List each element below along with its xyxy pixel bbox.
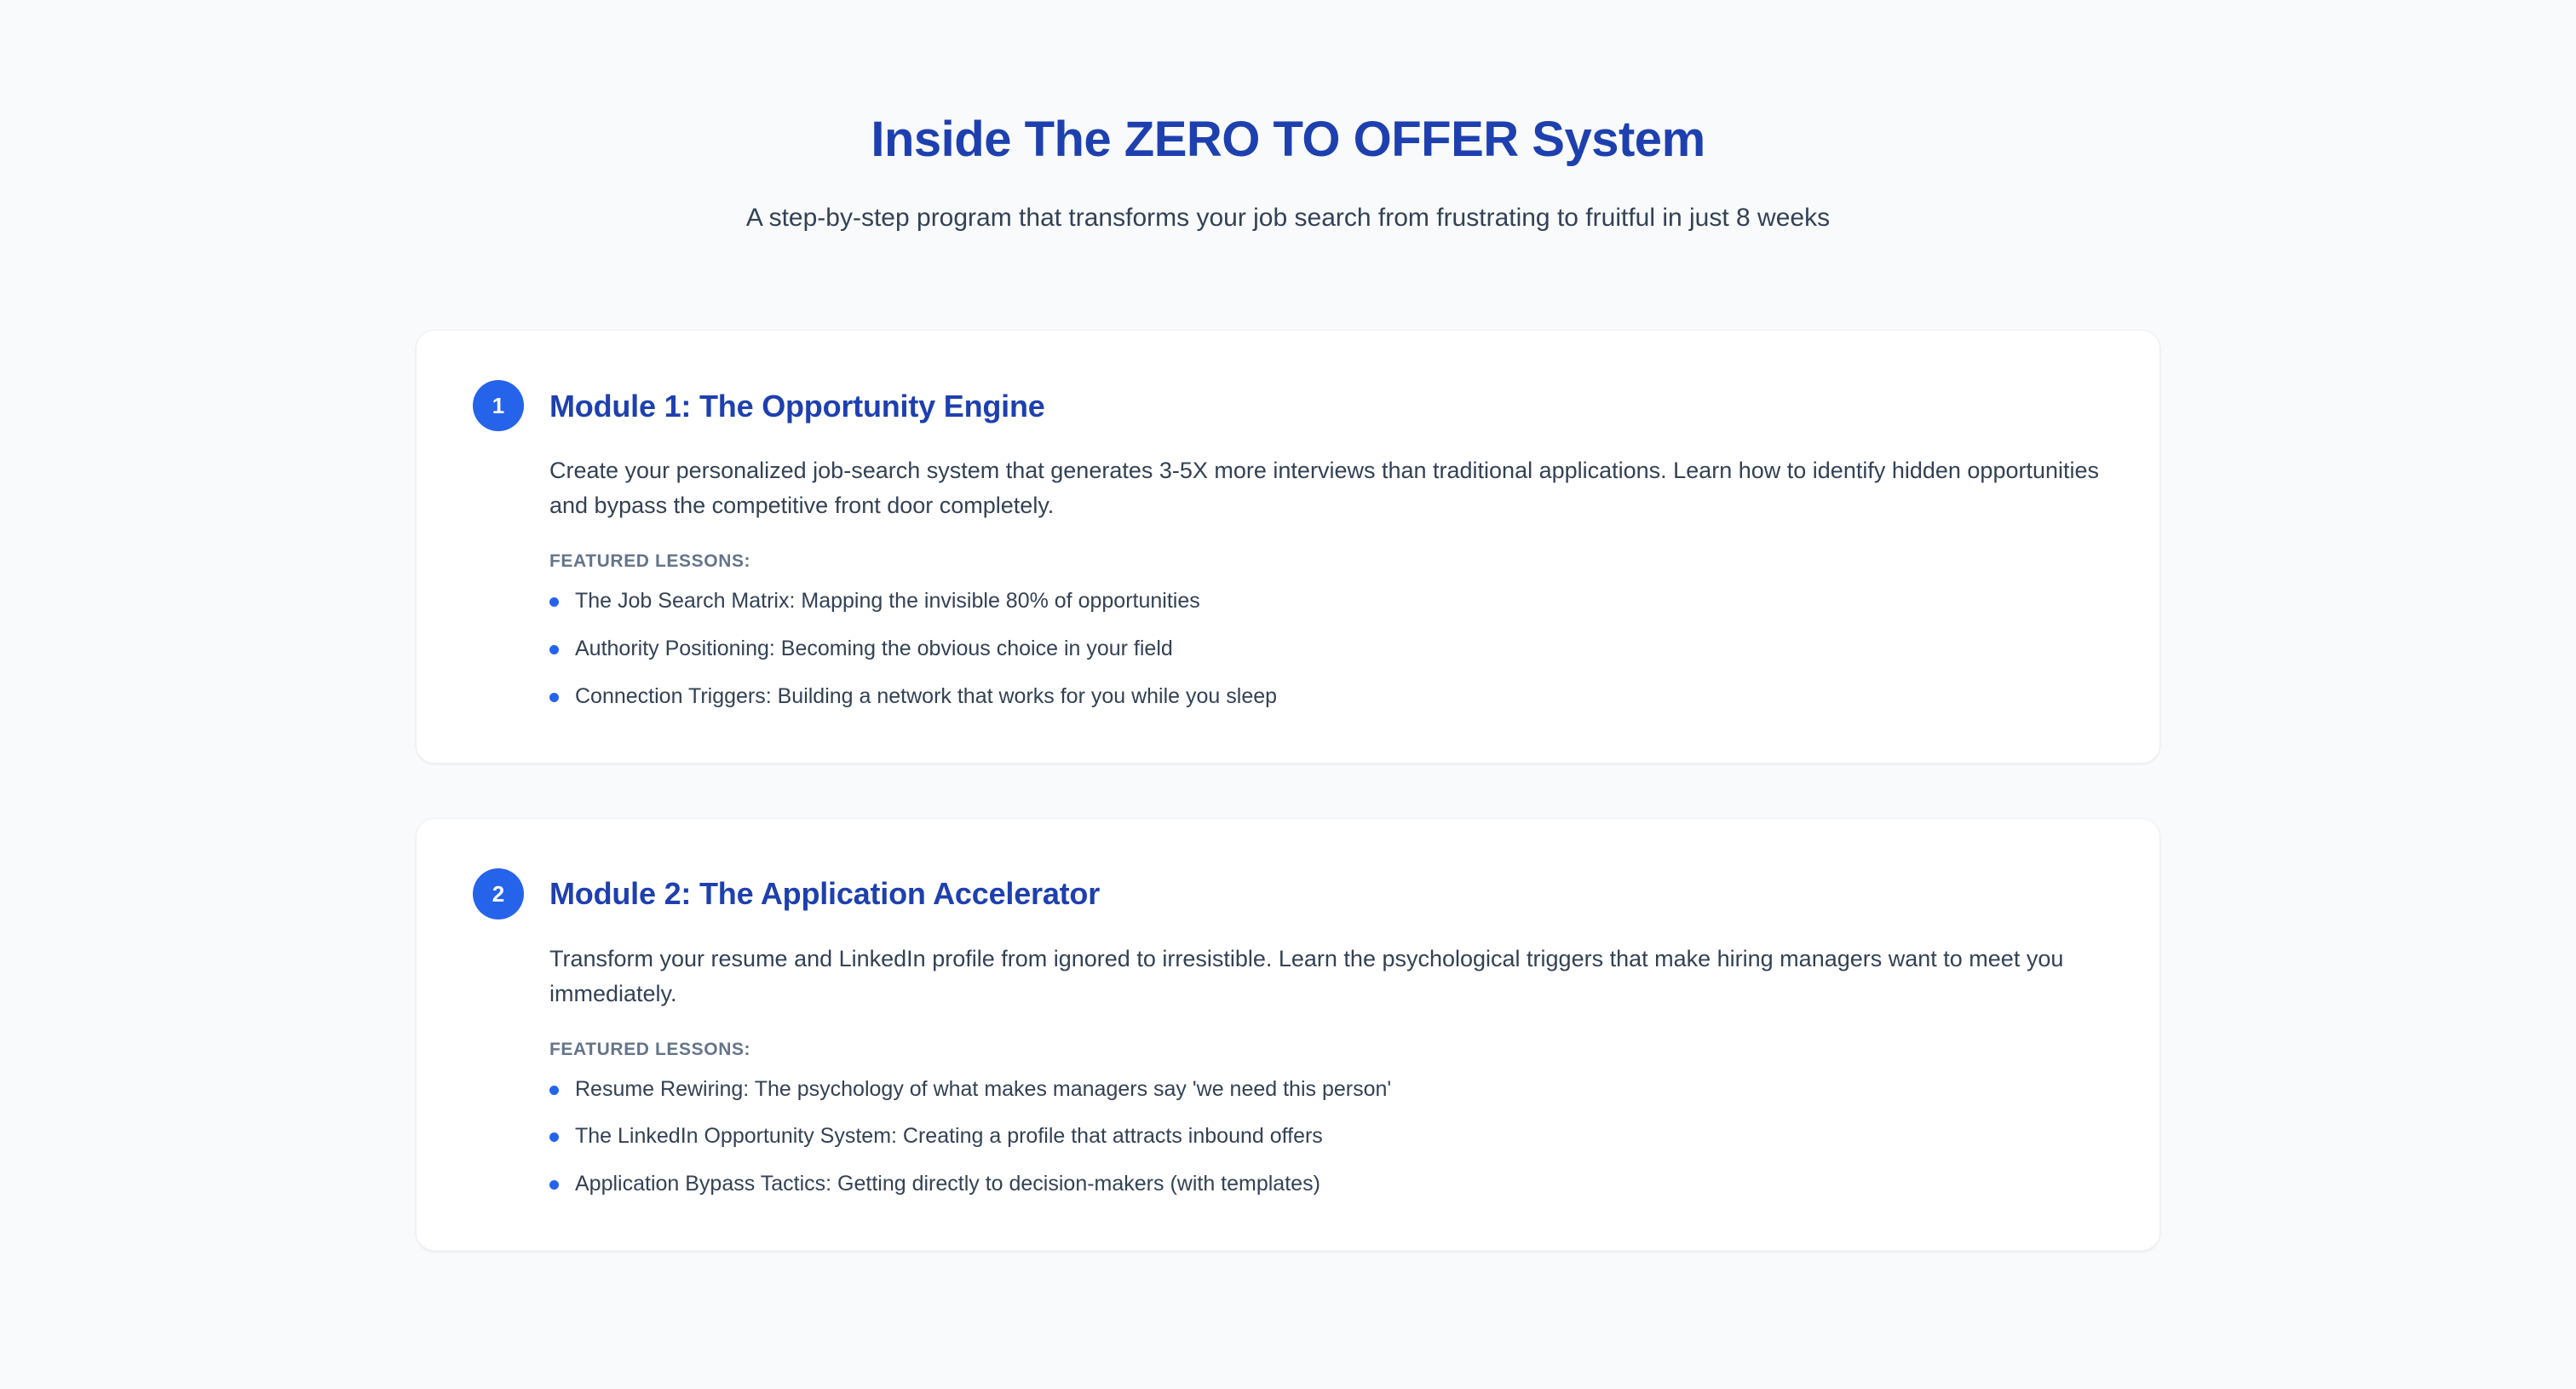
module-number-badge: 1 <box>473 380 524 431</box>
module-title: Module 1: The Opportunity Engine <box>549 389 1045 424</box>
module-card[interactable]: 2 Module 2: The Application Accelerator … <box>416 818 2160 1251</box>
featured-lessons-label: FEATURED LESSONS: <box>473 1011 2103 1060</box>
module-description: Create your personalized job-search syst… <box>473 431 2103 523</box>
list-item: The Job Search Matrix: Mapping the invis… <box>549 587 2103 616</box>
list-item: Authority Positioning: Becoming the obvi… <box>549 635 2103 664</box>
featured-lessons-list: The Job Search Matrix: Mapping the invis… <box>473 572 2103 711</box>
page-subtitle: A step-by-step program that transforms y… <box>0 167 2576 237</box>
lesson-text: Authority Positioning: Becoming the obvi… <box>575 637 1173 660</box>
featured-lessons-label: FEATURED LESSONS: <box>473 523 2103 572</box>
module-description: Transform your resume and LinkedIn profi… <box>473 919 2103 1011</box>
lesson-text: Resume Rewiring: The psychology of what … <box>575 1077 1391 1101</box>
module-number-badge: 2 <box>473 868 524 919</box>
module-card[interactable]: 1 Module 1: The Opportunity Engine Creat… <box>416 330 2160 763</box>
bullet-dot-icon <box>549 597 559 607</box>
module-header: 1 Module 1: The Opportunity Engine <box>473 380 2103 431</box>
page-root: Inside The ZERO TO OFFER System A step-b… <box>0 0 2576 1389</box>
list-item: Application Bypass Tactics: Getting dire… <box>549 1170 2103 1199</box>
lesson-text: Connection Triggers: Building a network … <box>575 684 1277 708</box>
list-item: The LinkedIn Opportunity System: Creatin… <box>549 1122 2103 1151</box>
bullet-dot-icon <box>549 1180 559 1190</box>
list-item: Connection Triggers: Building a network … <box>549 683 2103 712</box>
page-header: Inside The ZERO TO OFFER System A step-b… <box>0 0 2576 236</box>
list-item: Resume Rewiring: The psychology of what … <box>549 1075 2103 1104</box>
bullet-dot-icon <box>549 693 559 702</box>
lesson-text: The Job Search Matrix: Mapping the invis… <box>575 589 1200 613</box>
bullet-dot-icon <box>549 1086 559 1095</box>
lesson-text: The LinkedIn Opportunity System: Creatin… <box>575 1124 1323 1148</box>
bullet-dot-icon <box>549 645 559 654</box>
bullet-dot-icon <box>549 1133 559 1142</box>
page-title: Inside The ZERO TO OFFER System <box>0 112 2576 167</box>
module-title: Module 2: The Application Accelerator <box>549 876 1100 911</box>
module-list: 1 Module 1: The Opportunity Engine Creat… <box>416 236 2160 1251</box>
featured-lessons-list: Resume Rewiring: The psychology of what … <box>473 1060 2103 1199</box>
lesson-text: Application Bypass Tactics: Getting dire… <box>575 1172 1320 1196</box>
module-header: 2 Module 2: The Application Accelerator <box>473 868 2103 919</box>
